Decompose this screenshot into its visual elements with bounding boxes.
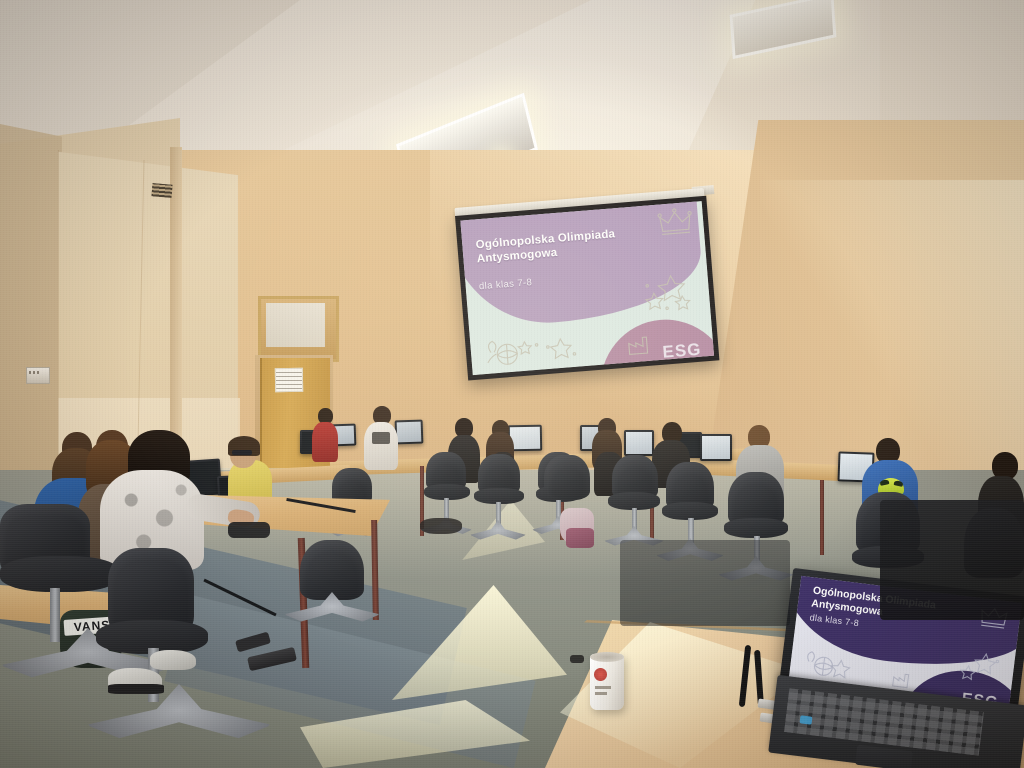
laptop-screen [397,422,422,443]
office-chair[interactable] [546,455,590,499]
chair-post [50,588,60,642]
mouse-pad [228,522,270,538]
star-icon [824,655,855,682]
shoe [150,650,196,670]
laptop[interactable] [624,430,654,456]
shoe-sole [108,684,164,694]
mug-text-line [595,692,607,695]
laptop-indicator-light [800,715,813,724]
desk-leg [820,480,824,555]
crown-icon [653,205,698,242]
small-object [570,655,584,663]
transom-window-glass [266,303,325,347]
coffee-mug [590,654,624,710]
slide-logo: ESG [662,340,702,363]
electrical-box-icon [26,367,50,384]
star-icon [641,270,696,316]
laptop-screen [510,427,540,450]
person-torso [312,422,338,462]
hoodie-graphic [372,432,390,444]
laptop[interactable] [700,434,732,461]
globe-leaf-icon [479,332,544,371]
laptop[interactable] [395,420,424,445]
factory-icon [891,669,913,689]
mug-text-line [595,686,611,689]
vent-grille-icon [151,183,172,198]
chair-seat [724,518,788,538]
laptop-screen [702,436,730,459]
laptop-screen [626,432,652,454]
factory-icon [625,333,651,357]
right-wall-sunlight [760,180,1024,480]
backpack [420,518,462,534]
projected-slide: Ogólnopolska Olimpiada Antysmogowa dla k… [460,201,714,375]
chair-seat [0,556,120,592]
eyeglasses-icon [232,450,252,455]
equipment-shadow [620,540,790,626]
person-torso [364,422,398,470]
star-icon [956,647,1004,688]
backpack [566,528,594,548]
star-icon [543,336,579,365]
mug-graphic [594,668,607,681]
door-notice-paper [275,368,303,392]
classroom-photo: Ogólnopolska Olimpiada Antysmogowa dla k… [0,0,1024,768]
projection-screen: Ogólnopolska Olimpiada Antysmogowa dla k… [455,196,719,381]
office-chair[interactable] [300,540,364,600]
mug-rim [590,652,624,662]
equipment [880,500,1024,620]
